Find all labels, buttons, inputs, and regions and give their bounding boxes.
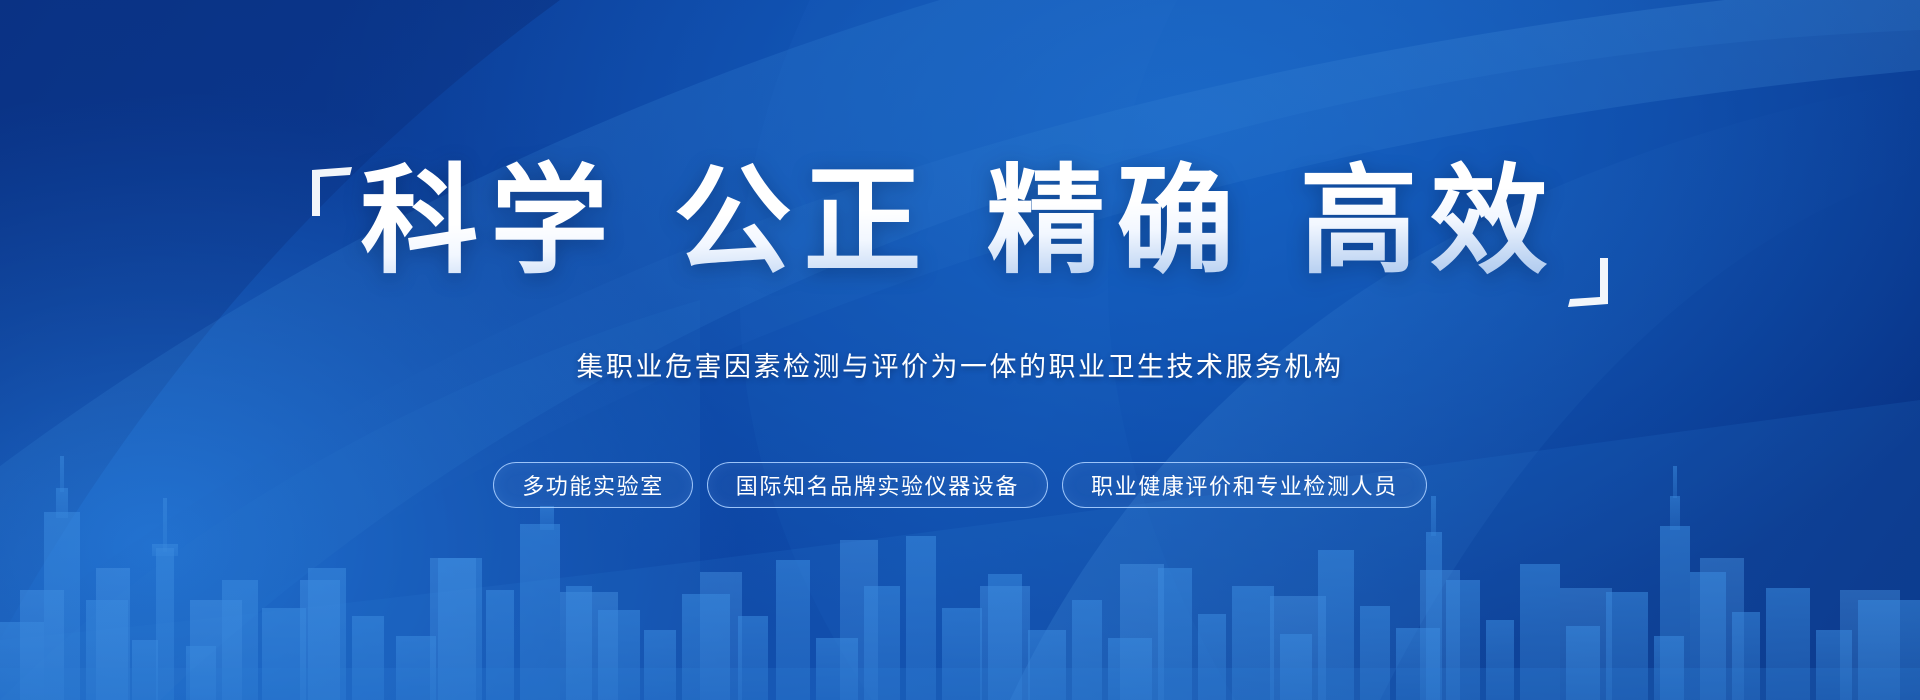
bracket-open-icon <box>308 166 354 218</box>
bracket-close-icon <box>1566 256 1612 308</box>
feature-pill-label: 国际知名品牌实验仪器设备 <box>736 469 1019 501</box>
feature-pill-lab[interactable]: 多功能实验室 <box>493 462 693 508</box>
page-title: 科学 公正 精确 高效 <box>360 150 1559 294</box>
banner-content: 科学 公正 精确 高效 集职业危害因素检测与评价为一体的职业卫生技术服务机构 多… <box>0 0 1920 700</box>
feature-pill-label: 多功能实验室 <box>522 469 664 501</box>
headline-block: 科学 公正 精确 高效 <box>0 150 1920 294</box>
feature-pill-equipment[interactable]: 国际知名品牌实验仪器设备 <box>707 462 1048 508</box>
page-subtitle: 集职业危害因素检测与评价为一体的职业卫生技术服务机构 <box>0 345 1920 384</box>
hero-banner: 科学 公正 精确 高效 集职业危害因素检测与评价为一体的职业卫生技术服务机构 多… <box>0 0 1920 700</box>
feature-pill-personnel[interactable]: 职业健康评价和专业检测人员 <box>1062 462 1427 508</box>
feature-pill-label: 职业健康评价和专业检测人员 <box>1091 469 1398 501</box>
feature-pill-list: 多功能实验室 国际知名品牌实验仪器设备 职业健康评价和专业检测人员 <box>0 462 1920 508</box>
